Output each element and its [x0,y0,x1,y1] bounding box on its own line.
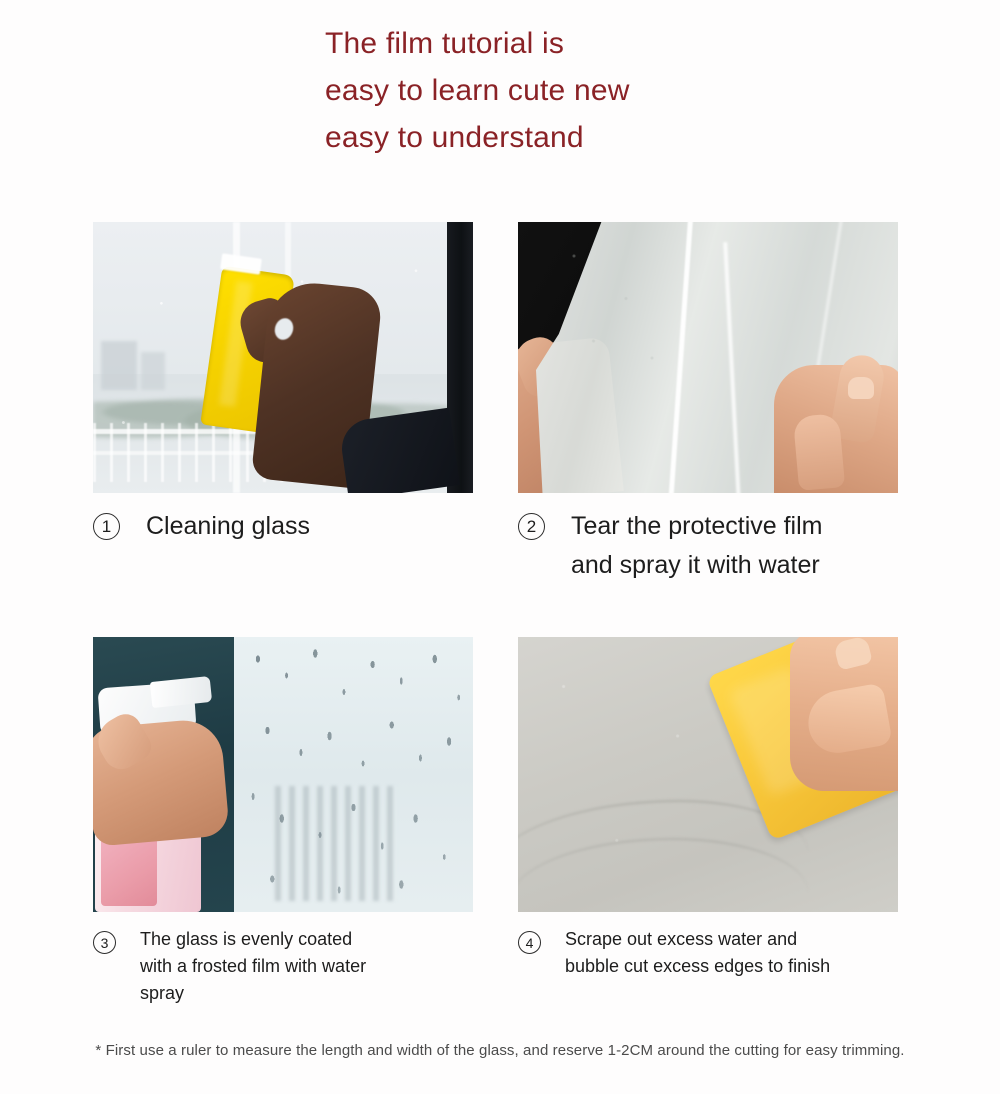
step-3-line-1: The glass is evenly coated [140,926,366,953]
footer: * First use a ruler to measure the lengt… [0,1042,1000,1060]
steps-grid: 1 Cleaning glass [93,222,899,1007]
step-4-number: 4 [518,931,541,954]
step-1-number: 1 [93,513,120,540]
step-2-number: 2 [518,513,545,540]
step-1-line-1: Cleaning glass [146,507,310,546]
footer-note: * First use a ruler to measure the lengt… [95,1042,904,1059]
step-2-photo [518,222,898,493]
step-3-line-2: with a frosted film with water [140,953,366,980]
film-texture [548,222,678,392]
step-2-line-1: Tear the protective film [571,507,823,546]
step-4-photo [518,637,898,912]
fingernail-icon [848,377,874,399]
step-1-photo [93,222,473,493]
step-1-text: Cleaning glass [146,507,310,546]
step-3-caption: 3 The glass is evenly coated with a fros… [93,912,473,1007]
step-3-text: The glass is evenly coated with a froste… [140,926,366,1007]
title-line-2: easy to learn cute new [325,67,945,114]
title-line-1: The film tutorial is [325,20,945,67]
step-1: 1 Cleaning glass [93,222,473,603]
right-hand-finger-2-icon [793,413,845,491]
step-4-line-1: Scrape out excess water and [565,926,830,953]
step-3-line-3: spray [140,980,366,1007]
step-3: 3 The glass is evenly coated with a fros… [93,637,473,1007]
page-title: The film tutorial is easy to learn cute … [325,20,945,161]
step-4-line-2: bubble cut excess edges to finish [565,953,830,980]
step-4-caption: 4 Scrape out excess water and bubble cut… [518,912,898,980]
steps-row-bottom: 3 The glass is evenly coated with a fros… [93,637,899,1007]
step-3-number: 3 [93,931,116,954]
step-3-photo [93,637,473,912]
step-2: 2 Tear the protective film and spray it … [518,222,898,603]
water-droplets-icon [234,637,473,912]
step-2-caption: 2 Tear the protective film and spray it … [518,493,898,603]
step-4: 4 Scrape out excess water and bubble cut… [518,637,898,1007]
tutorial-page: The film tutorial is easy to learn cute … [0,0,1000,1094]
step-2-line-2: and spray it with water [571,546,823,585]
steps-row-top: 1 Cleaning glass [93,222,899,603]
step-2-text: Tear the protective film and spray it wi… [571,507,823,585]
step-4-text: Scrape out excess water and bubble cut e… [565,926,830,980]
step-1-caption: 1 Cleaning glass [93,493,473,603]
title-line-3: easy to understand [325,114,945,161]
